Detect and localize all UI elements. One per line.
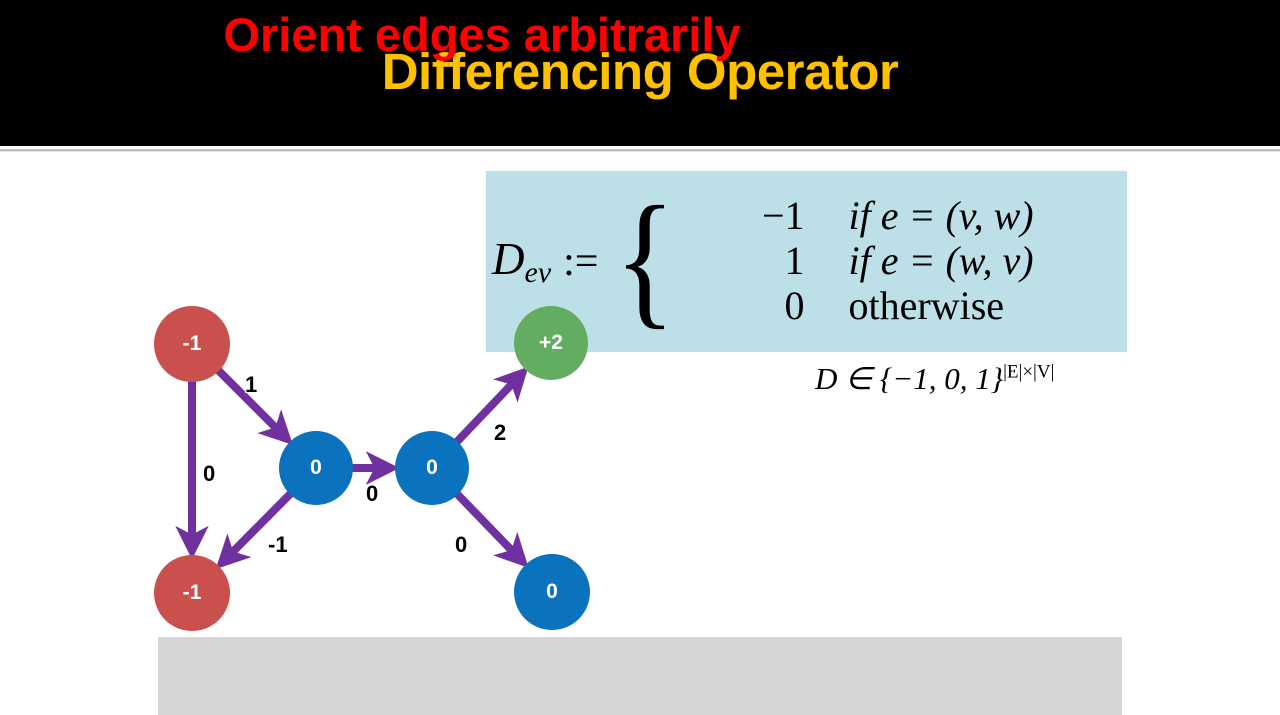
graph-node-label: 0 (426, 456, 438, 480)
graph-node-center-left[interactable]: 0 (279, 431, 353, 505)
graph-node-top-left[interactable]: -1 (154, 306, 230, 382)
graph-edge-label: -1 (268, 532, 288, 558)
graph-edge-label: 1 (245, 372, 257, 398)
graph-edge-label: 0 (455, 532, 467, 558)
graph-edge-label: 2 (494, 420, 506, 446)
graph-node-top-right[interactable]: +2 (514, 306, 588, 380)
graph-edge-label: 0 (366, 481, 378, 507)
graph-node-label: 0 (546, 580, 558, 604)
graph-node-bottom-left[interactable]: -1 (154, 555, 230, 631)
graph-node-label: -1 (183, 581, 202, 605)
graph-node-center-right[interactable]: 0 (395, 431, 469, 505)
graph-node-label: 0 (310, 456, 322, 480)
graph-diagram: -1 0 0 -1 +2 0 1 0 0 -1 2 0 (0, 150, 1280, 640)
caption-box (158, 637, 1122, 715)
graph-node-bottom-right[interactable]: 0 (514, 554, 590, 630)
graph-edge-label: 0 (203, 461, 215, 487)
caption-text: Orient edges arbitrarily (0, 7, 964, 62)
graph-node-label: -1 (183, 332, 202, 356)
graph-node-label: +2 (539, 331, 563, 355)
